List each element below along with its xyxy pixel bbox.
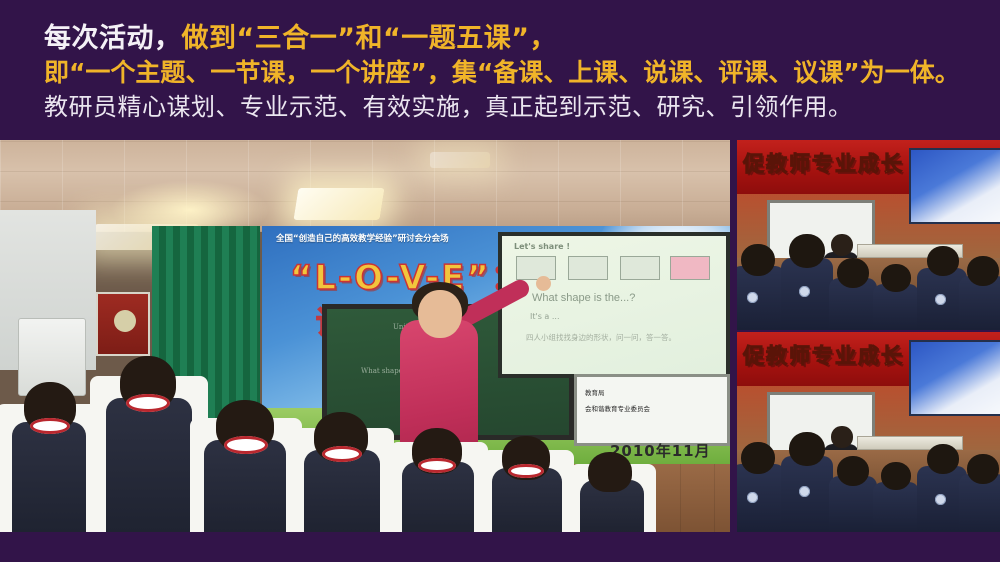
- students-group: [737, 414, 1000, 532]
- whiteboard-line-1: 教育局: [585, 387, 605, 397]
- heading-line-1: 每次活动，做到“三合一”和“一题五课”，: [44, 22, 988, 56]
- student-figure: [873, 462, 919, 532]
- student-figure: [781, 234, 833, 330]
- student-figure: [959, 256, 1000, 330]
- student-head: [927, 246, 959, 276]
- school-badge-icon: [747, 492, 758, 503]
- student-collar: [224, 436, 268, 454]
- heading-line-3: 教研员精心谋划、专业示范、有效实施，真正起到示范、研究、引领作用。: [44, 90, 988, 124]
- red-banner-text: 促教师专业成长: [743, 148, 904, 178]
- heading-line-1-white: 每次活动，: [44, 23, 182, 54]
- student-head: [837, 258, 869, 288]
- student-figure: [478, 436, 580, 532]
- student-figure: [829, 258, 877, 330]
- student-head: [881, 264, 911, 292]
- heading-block: 每次活动，做到“三合一”和“一题五课”， 即“一个主题、一节课，一个讲座”，集“…: [0, 0, 1000, 140]
- student-collar: [508, 464, 544, 478]
- side-whiteboard: 教育局 会和谐教育专业委员会: [574, 374, 730, 446]
- student-head: [789, 234, 825, 268]
- student-head: [789, 432, 825, 466]
- screen-chinese-text: 四人小组找找身边的形状，问一问，答一答。: [526, 332, 676, 343]
- ceiling-lamp-icon: [430, 152, 490, 168]
- heading-line-1-gold: 做到“三合一”和“一题五课”，: [182, 23, 557, 54]
- right-bottom-photo: 促教师专业成长: [737, 332, 1000, 532]
- student-figure: [829, 456, 877, 532]
- projection-screen: Let's share ! What shape is the...? It's…: [498, 232, 730, 378]
- screen-title-text: Let's share !: [514, 242, 570, 251]
- student-figure: [959, 454, 1000, 532]
- teacher-hand: [536, 276, 551, 291]
- screen-shape-image: [568, 256, 608, 280]
- school-badge-icon: [747, 292, 758, 303]
- student-head: [967, 256, 999, 286]
- screen-shape-image: [620, 256, 660, 280]
- screen-shape-image: [516, 256, 556, 280]
- school-badge-icon: [935, 294, 946, 305]
- whiteboard-line-2: 会和谐教育专业委员会: [585, 403, 650, 413]
- student-figure: [737, 442, 785, 532]
- projection-screen: [909, 340, 1000, 416]
- student-collar: [126, 394, 170, 412]
- student-collar: [30, 418, 70, 434]
- heading-line-2: 即“一个主题、一节课，一个讲座”，集“备课、上课、说课、评课、议课”为一体。: [44, 56, 988, 90]
- screen-shape-image: [670, 256, 710, 280]
- student-head: [837, 456, 869, 486]
- student-head: [927, 444, 959, 474]
- student-figure: [737, 244, 785, 330]
- red-banner-text: 促教师专业成长: [743, 340, 904, 370]
- school-badge-icon: [799, 286, 810, 297]
- student-vest: [304, 450, 380, 532]
- school-badge-icon: [799, 486, 810, 497]
- student-figure: [288, 412, 400, 532]
- screen-question-text: What shape is the...?: [532, 292, 635, 304]
- photo-collage: 全国“创造自己的高效教学经验”研讨会分会场 “L-O-V-E”：让 课堂也像 O…: [0, 140, 1000, 532]
- school-badge-icon: [935, 494, 946, 505]
- students-group: [737, 212, 1000, 330]
- student-head: [741, 442, 775, 474]
- ceiling-lamp-icon: [293, 188, 384, 220]
- slide-root: 每次活动，做到“三合一”和“一题五课”， 即“一个主题、一节课，一个讲座”，集“…: [0, 0, 1000, 562]
- student-collar: [418, 458, 456, 473]
- right-top-photo: 促教师专业成长: [737, 140, 1000, 330]
- screen-answer-text: It's a ...: [530, 312, 559, 321]
- teacher-head: [418, 290, 462, 338]
- student-head: [881, 462, 911, 490]
- student-collar: [322, 446, 362, 462]
- wall-clock-box: [96, 292, 150, 356]
- student-figure: [566, 452, 662, 532]
- student-vest: [106, 398, 192, 532]
- student-figure: [781, 432, 833, 532]
- student-head: [967, 454, 999, 484]
- main-classroom-photo: 全国“创造自己的高效教学经验”研讨会分会场 “L-O-V-E”：让 课堂也像 O…: [0, 140, 730, 532]
- student-vest: [12, 422, 86, 532]
- student-figure: [873, 264, 919, 330]
- student-vest: [737, 464, 785, 532]
- student-head: [588, 452, 632, 492]
- student-head: [741, 244, 775, 276]
